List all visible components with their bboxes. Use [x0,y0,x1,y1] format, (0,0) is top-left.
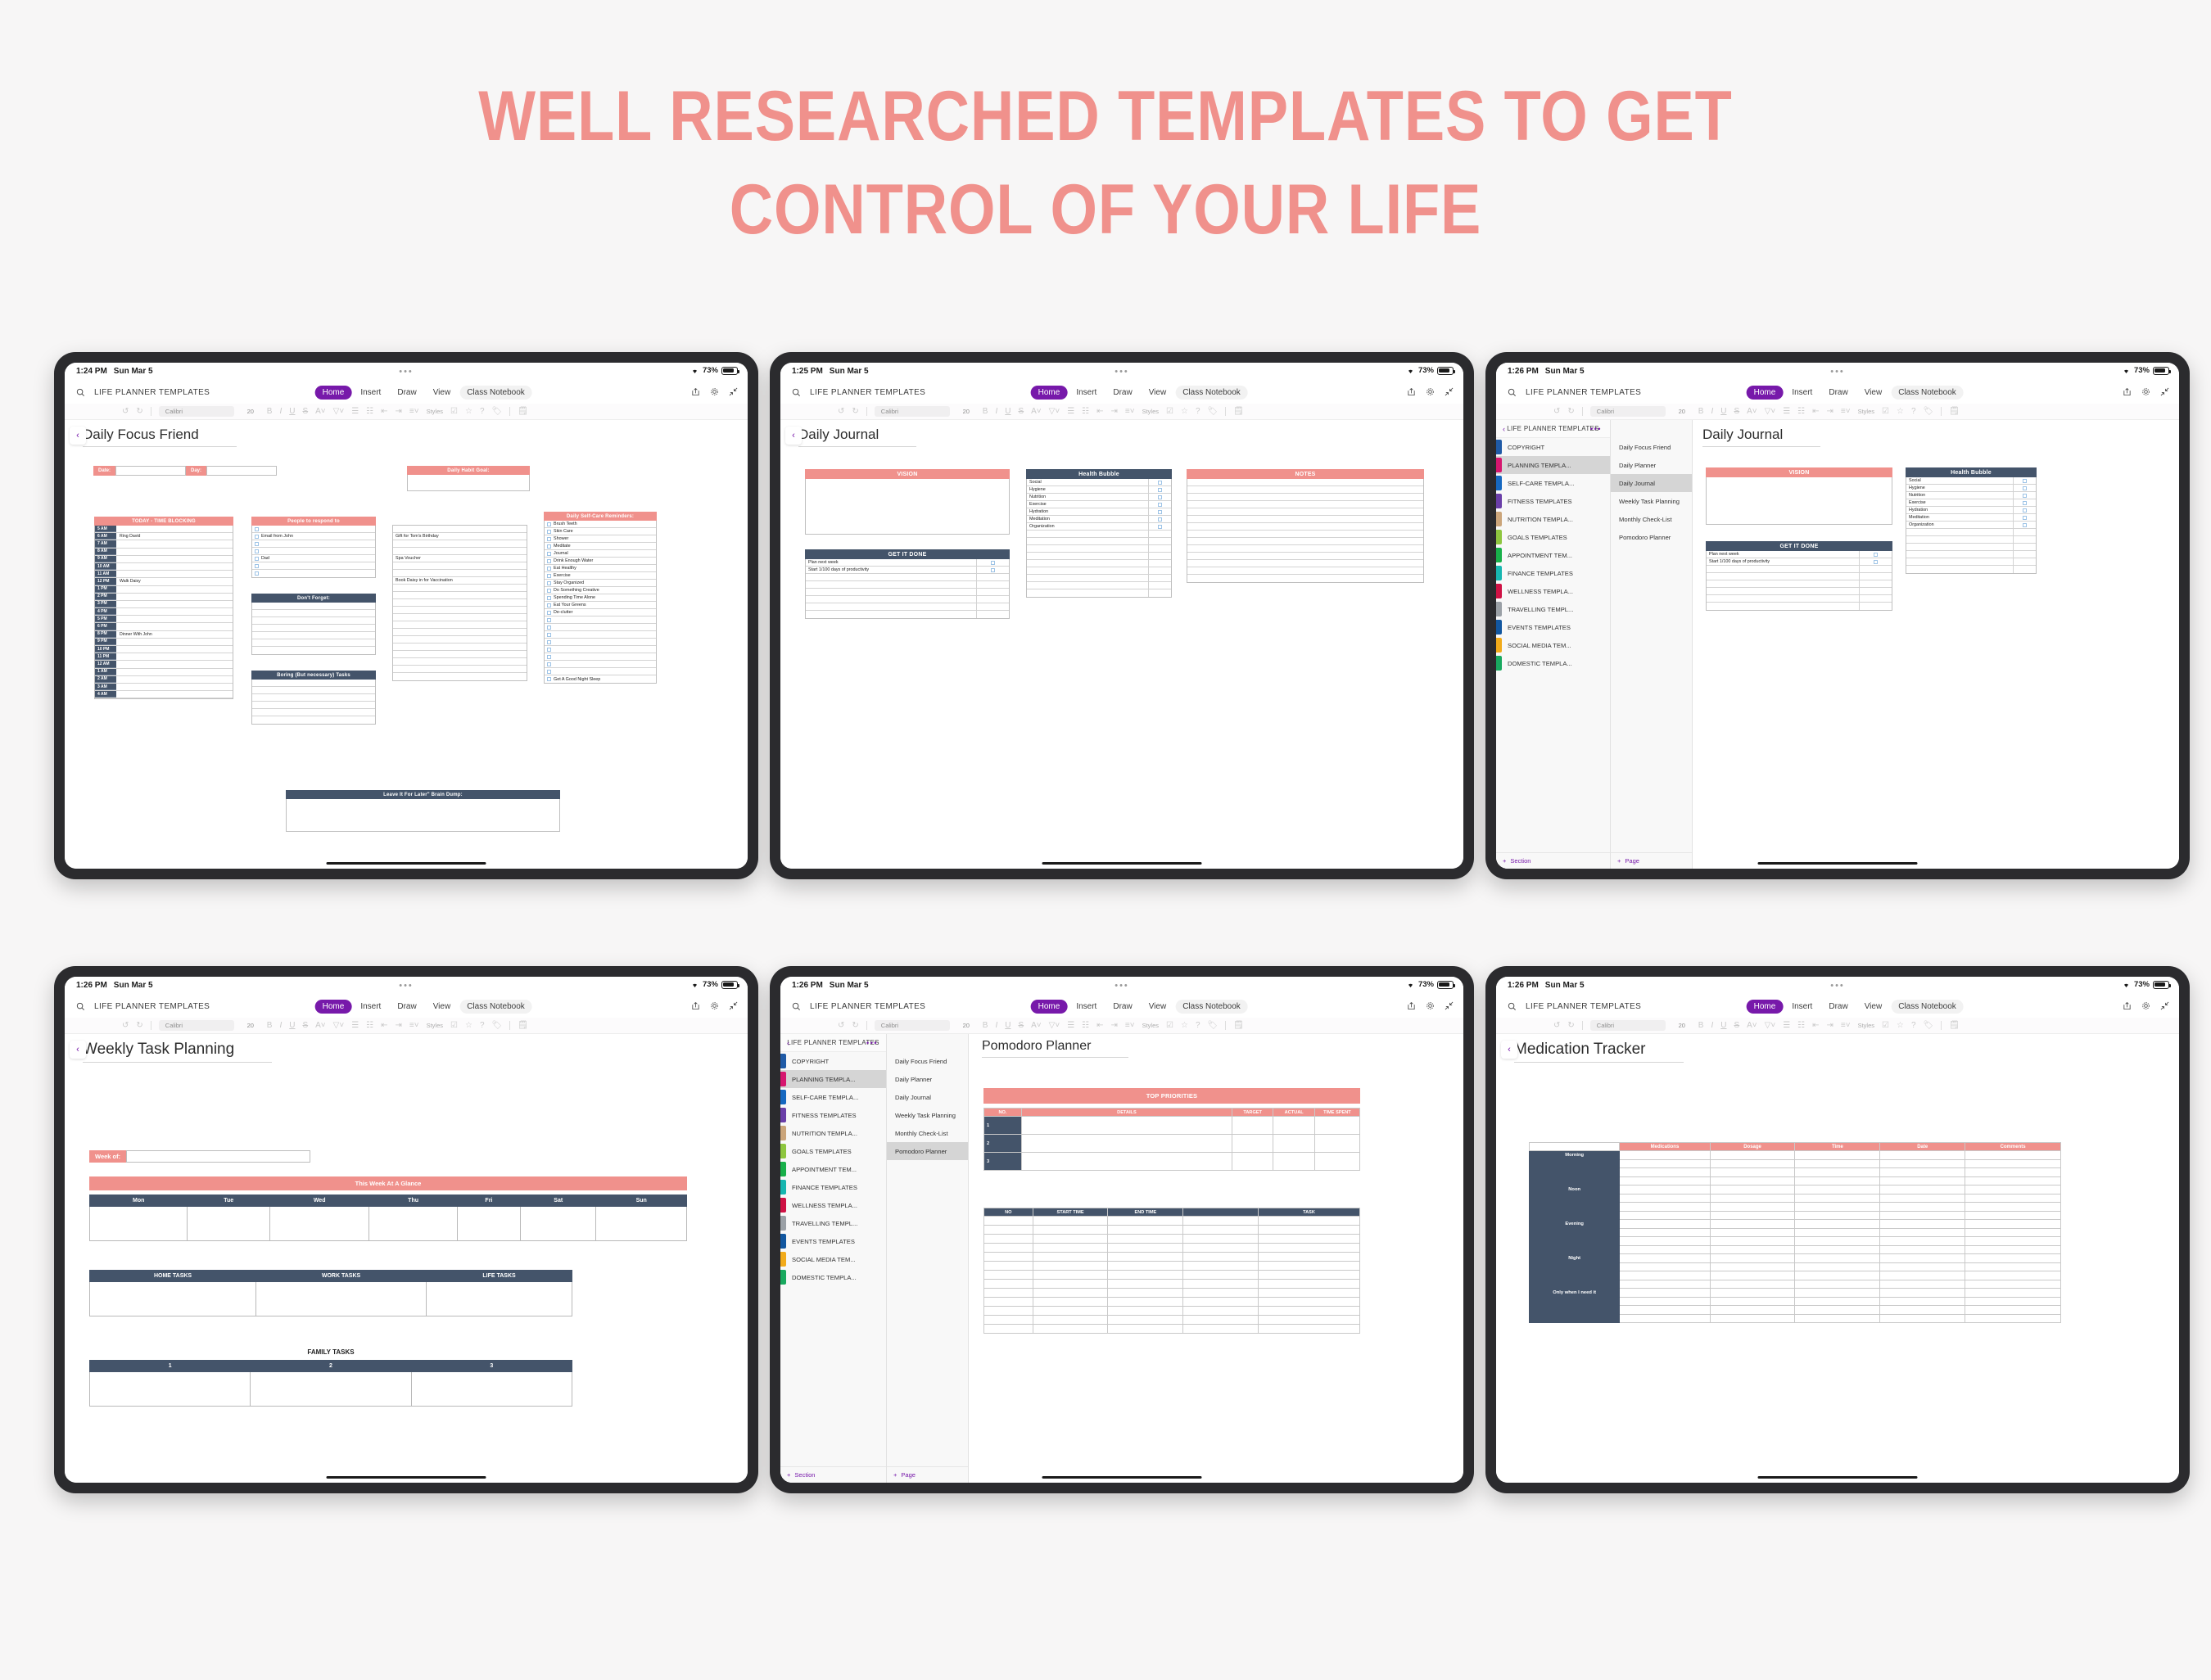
medication-cell[interactable] [1795,1211,1880,1220]
strikethrough-button[interactable]: S [1734,407,1739,416]
session-row[interactable] [984,1244,1360,1253]
session-cell[interactable] [984,1280,1033,1289]
boring-row[interactable] [252,709,375,716]
checkbox-icon[interactable] [255,527,259,531]
time-block-row[interactable]: 12 PMWalk Daisy [95,578,233,585]
task-groups-table[interactable]: HOME TASKSWORK TASKSLIFE TASKS [89,1270,572,1316]
medication-cell[interactable] [1795,1271,1880,1280]
multitask-dots-icon[interactable]: ••• [399,368,414,375]
medication-cell[interactable] [1620,1297,1710,1306]
session-row[interactable] [984,1253,1360,1262]
checkbox-icon[interactable] [547,589,551,593]
time-block-row[interactable]: 8 AM [95,549,233,556]
tab-home[interactable]: Home [1031,1000,1068,1014]
tab-draw[interactable]: Draw [1105,1000,1139,1014]
checkbox-icon[interactable] [2023,523,2027,527]
checkbox-icon[interactable] [1874,553,1878,557]
medication-cell[interactable] [1880,1306,1965,1315]
highlighter-icon[interactable]: ▽˅ [1765,1021,1776,1030]
health-bubble-check-cell[interactable] [1148,553,1171,559]
checkbox-icon[interactable] [2023,479,2027,483]
medication-cell[interactable] [1710,1289,1795,1298]
health-bubble-check-cell[interactable] [1148,508,1171,515]
medication-cell[interactable] [1620,1237,1710,1246]
shopping-list-table[interactable]: Gift for Tom's BirthdaySpa VoucherBook D… [392,525,527,681]
session-cell[interactable] [1183,1253,1259,1262]
italic-button[interactable]: I [1711,1021,1713,1030]
tab-insert[interactable]: Insert [1784,386,1820,400]
medication-row[interactable]: Morning [1530,1151,2061,1160]
add-section-button[interactable]: + Section [780,1466,886,1483]
health-bubble-check-cell[interactable] [2013,529,2036,535]
health-bubble-rows[interactable]: SocialHygieneNutritionExerciseHydrationM… [1906,477,2037,574]
list-row[interactable] [393,666,527,673]
health-bubble-row[interactable] [1027,545,1171,553]
strikethrough-button[interactable]: S [1734,1021,1739,1030]
checkbox-icon[interactable] [255,557,259,561]
session-cell[interactable] [984,1307,1033,1316]
bulleted-list-icon[interactable]: ☰ [351,1021,359,1030]
session-cell[interactable] [1108,1253,1183,1262]
boring-row[interactable] [252,687,375,694]
add-section-button[interactable]: + Section [1496,852,1610,869]
priority-cell[interactable] [1232,1135,1273,1153]
health-bubble-check-cell[interactable] [1148,560,1171,567]
medication-cell[interactable] [1620,1176,1710,1185]
get-it-done-check-cell[interactable] [1859,558,1892,565]
time-block-row[interactable]: 10 PM [95,646,233,653]
font-color-icon[interactable]: A˅ [315,1021,326,1030]
self-care-row[interactable] [545,661,656,668]
health-bubble-row[interactable] [1906,544,2036,551]
font-size-input[interactable]: 20 [242,1022,260,1029]
numbered-list-icon[interactable]: ☷ [366,407,373,416]
dont-forget-row[interactable] [252,610,375,617]
list-row[interactable] [393,599,527,607]
checkbox-icon[interactable] [547,640,551,644]
medication-cell[interactable] [1795,1306,1880,1315]
list-row[interactable] [393,585,527,592]
session-row[interactable] [984,1298,1360,1307]
sidebar-item-fitness-templates[interactable]: FITNESS TEMPLATES [1496,492,1610,510]
time-block-task[interactable] [116,653,233,660]
health-bubble-check-cell[interactable] [2013,507,2036,513]
medication-cell[interactable] [1965,1203,2061,1212]
tab-insert[interactable]: Insert [1069,386,1104,400]
medication-cell[interactable] [1880,1176,1965,1185]
medication-cell[interactable] [1965,1314,2061,1323]
tab-home[interactable]: Home [1747,386,1784,400]
list-row[interactable] [393,621,527,629]
medication-cell[interactable] [1710,1228,1795,1237]
session-cell[interactable] [1183,1244,1259,1253]
health-bubble-row[interactable]: Hygiene [1027,486,1171,494]
time-block-row[interactable]: 2 AM [95,676,233,684]
search-icon[interactable] [1508,386,1517,401]
list-row[interactable] [393,644,527,651]
medication-cell[interactable] [1795,1168,1880,1177]
medication-cell[interactable] [1710,1262,1795,1271]
get-it-done-row[interactable] [806,581,1009,589]
undo-icon[interactable]: ↺ [838,407,844,416]
redo-icon[interactable]: ↻ [1567,407,1574,416]
session-cell[interactable] [984,1262,1033,1271]
list-row[interactable] [393,540,527,548]
highlighter-icon[interactable]: ▽˅ [333,407,345,416]
sidebar-item-events-templates[interactable]: EVENTS TEMPLATES [1496,618,1610,636]
session-cell[interactable] [1108,1217,1183,1226]
health-bubble-check-cell[interactable] [2013,492,2036,499]
session-cell[interactable] [1259,1307,1360,1316]
boring-row[interactable] [252,694,375,702]
tab-class-notebook[interactable]: Class Notebook [459,386,532,400]
time-block-task[interactable] [116,549,233,555]
notes-row[interactable] [1187,545,1423,553]
font-name-input[interactable]: Calibri [875,1020,950,1031]
notes-row[interactable] [1187,538,1423,545]
tab-view[interactable]: View [426,1000,459,1014]
health-bubble-row[interactable] [1906,529,2036,536]
session-cell[interactable] [984,1253,1033,1262]
session-cell[interactable] [1259,1271,1360,1280]
session-cell[interactable] [1259,1217,1360,1226]
time-block-task[interactable] [116,571,233,577]
notes-row[interactable] [1187,508,1423,516]
health-bubble-check-cell[interactable] [2013,477,2036,484]
self-care-row[interactable]: Skin Care [545,528,656,535]
checkbox-icon[interactable] [547,567,551,571]
time-block-task[interactable] [116,691,233,698]
medication-cell[interactable] [1710,1237,1795,1246]
session-cell[interactable] [1183,1325,1259,1334]
priority-cell[interactable] [1314,1135,1359,1153]
tab-insert[interactable]: Insert [353,386,388,400]
search-icon[interactable] [76,1000,85,1015]
health-bubble-check-cell[interactable] [2013,514,2036,521]
list-row[interactable] [393,570,527,577]
session-cell[interactable] [1033,1316,1108,1325]
session-cell[interactable] [1183,1235,1259,1244]
sidebar-item-appointment-tem[interactable]: APPOINTMENT TEM... [780,1160,886,1178]
medication-cell[interactable] [1795,1228,1880,1237]
medication-cell[interactable] [1965,1297,2061,1306]
week-of-input[interactable] [126,1150,310,1163]
medication-cell[interactable] [1795,1289,1880,1298]
gear-icon[interactable] [710,386,719,400]
increase-indent-icon[interactable]: ⇥ [396,407,402,416]
medication-cell[interactable] [1965,1159,2061,1168]
medication-row[interactable] [1530,1280,2061,1289]
time-block-row[interactable]: 12 AM [95,661,233,668]
session-cell[interactable] [1259,1325,1360,1334]
priority-cell[interactable] [1021,1153,1232,1171]
priority-row[interactable]: 3 [984,1153,1360,1171]
sidebar-item-copyright[interactable]: COPYRIGHT [1496,438,1610,456]
self-care-row[interactable]: Journal [545,550,656,558]
checkbox-icon[interactable] [2023,516,2027,520]
checkbox-icon[interactable] [547,537,551,541]
sticky-note-icon[interactable]: 🗒 [1949,407,1960,416]
medication-cell[interactable] [1795,1245,1880,1254]
session-cell[interactable] [1033,1298,1108,1307]
medication-cell[interactable] [1965,1289,2061,1298]
checkbox-icon[interactable] [547,662,551,666]
health-bubble-row[interactable] [1027,538,1171,545]
tab-draw[interactable]: Draw [1821,1000,1855,1014]
share-icon[interactable] [2123,1000,2132,1014]
numbered-list-icon[interactable]: ☷ [366,1021,373,1030]
increase-indent-icon[interactable]: ⇥ [1827,1021,1833,1030]
sidebar-item-finance-templates[interactable]: FINANCE TEMPLATES [780,1178,886,1196]
medication-cell[interactable] [1880,1194,1965,1203]
checkbox-icon[interactable] [1158,503,1162,507]
get-it-done-check-cell[interactable] [976,589,1009,595]
medication-cell[interactable] [1880,1280,1965,1289]
gear-icon[interactable] [2141,386,2150,400]
sidebar-item-wellness-templa[interactable]: WELLNESS TEMPLA... [1496,582,1610,600]
multitask-dots-icon[interactable]: ••• [399,982,414,989]
checkbox-icon[interactable] [2023,494,2027,498]
session-cell[interactable] [1183,1271,1259,1280]
checkbox-icon[interactable] [547,574,551,578]
medication-cell[interactable] [1880,1237,1965,1246]
medication-cell[interactable] [1710,1211,1795,1220]
gear-icon[interactable] [1426,1000,1435,1014]
medication-cell[interactable] [1965,1176,2061,1185]
session-cell[interactable] [984,1217,1033,1226]
medication-cell[interactable] [1795,1176,1880,1185]
self-care-row[interactable] [545,631,656,639]
medication-row[interactable] [1530,1237,2061,1246]
session-cell[interactable] [1033,1253,1108,1262]
health-bubble-check-cell[interactable] [2013,499,2036,506]
session-cell[interactable] [1183,1316,1259,1325]
time-block-row[interactable]: 11 AM [95,571,233,578]
time-block-row[interactable]: 9 AM [95,556,233,563]
multitask-dots-icon[interactable]: ••• [1830,982,1845,989]
session-cell[interactable] [1033,1262,1108,1271]
sidebar-item-nutrition-templa[interactable]: NUTRITION TEMPLA... [1496,510,1610,528]
vision-input[interactable] [805,479,1010,535]
weekday-cell[interactable] [90,1207,188,1241]
family-col-cell[interactable] [411,1372,572,1407]
medication-cell[interactable] [1620,1262,1710,1271]
self-care-row[interactable] [545,639,656,646]
medication-cell[interactable] [1880,1211,1965,1220]
medication-row[interactable] [1530,1194,2061,1203]
get-it-done-row[interactable] [806,589,1009,596]
get-it-done-row[interactable] [806,611,1009,618]
medication-cell[interactable] [1620,1211,1710,1220]
get-it-done-row[interactable] [1707,573,1892,580]
session-cell[interactable] [1108,1316,1183,1325]
numbered-list-icon[interactable]: ☷ [1082,1021,1089,1030]
checkbox-icon[interactable] [255,564,259,568]
health-bubble-check-cell[interactable] [1148,479,1171,485]
italic-button[interactable]: I [1711,407,1713,416]
undo-icon[interactable]: ↺ [1553,407,1560,416]
star-icon[interactable]: ☆ [1897,407,1904,416]
styles-button[interactable]: Styles [427,408,443,415]
medication-cell[interactable] [1620,1254,1710,1263]
checkbox-icon[interactable] [547,677,551,681]
medication-cell[interactable] [1620,1194,1710,1203]
priority-cell[interactable] [1273,1117,1314,1135]
medication-row[interactable] [1530,1314,2061,1323]
session-cell[interactable] [1259,1298,1360,1307]
time-block-task[interactable] [116,556,233,562]
tab-class-notebook[interactable]: Class Notebook [1891,1000,1964,1014]
get-it-done-check-cell[interactable] [976,581,1009,588]
session-row[interactable] [984,1325,1360,1334]
get-it-done-row[interactable] [1707,595,1892,603]
session-cell[interactable] [984,1226,1033,1235]
highlighter-icon[interactable]: ▽˅ [1049,1021,1060,1030]
weekday-cell[interactable] [269,1207,369,1241]
get-it-done-check-cell[interactable] [976,611,1009,618]
session-cell[interactable] [1108,1298,1183,1307]
medication-cell[interactable] [1620,1159,1710,1168]
list-row[interactable] [393,673,527,680]
font-name-input[interactable]: Calibri [875,406,950,417]
session-cell[interactable] [1183,1298,1259,1307]
session-cell[interactable] [984,1235,1033,1244]
strikethrough-button[interactable]: S [1018,407,1024,416]
health-bubble-check-cell[interactable] [1148,531,1171,537]
time-block-row[interactable]: 11 PM [95,653,233,661]
session-cell[interactable] [1108,1289,1183,1298]
underline-button[interactable]: U [1005,1021,1011,1030]
underline-button[interactable]: U [1720,407,1726,416]
medication-cell[interactable] [1880,1203,1965,1212]
bulleted-list-icon[interactable]: ☰ [351,407,359,416]
decrease-indent-icon[interactable]: ⇤ [1812,1021,1819,1030]
italic-button[interactable]: I [995,1021,997,1030]
notes-row[interactable] [1187,523,1423,531]
notes-rows[interactable] [1187,479,1424,583]
session-cell[interactable] [1108,1307,1183,1316]
health-bubble-check-cell[interactable] [2013,544,2036,550]
time-block-task[interactable] [116,623,233,630]
checkbox-icon[interactable] [991,561,995,565]
back-button[interactable]: ‹ [70,1041,86,1059]
medication-cell[interactable] [1710,1203,1795,1212]
list-row[interactable]: Gift for Tom's Birthday [393,533,527,540]
time-block-task[interactable]: Walk Daisy [116,578,233,585]
font-name-input[interactable]: Calibri [159,406,234,417]
underline-button[interactable]: U [289,407,295,416]
checkbox-icon[interactable] [547,625,551,630]
task-group-cell[interactable] [90,1282,256,1316]
checkbox-icon[interactable] [1158,517,1162,522]
time-block-task[interactable] [116,661,233,667]
dont-forget-row[interactable] [252,632,375,639]
search-icon[interactable] [792,1000,801,1015]
notes-row[interactable] [1187,516,1423,523]
medication-cell[interactable] [1880,1314,1965,1323]
session-row[interactable] [984,1262,1360,1271]
page-item-weekly-task-planning[interactable]: Weekly Task Planning [1611,492,1692,510]
health-bubble-row[interactable]: Meditation [1027,516,1171,523]
question-icon[interactable]: ? [1911,407,1916,416]
question-icon[interactable]: ? [480,1021,485,1030]
session-cell[interactable] [1033,1244,1108,1253]
health-bubble-check-cell[interactable] [2013,536,2036,543]
day-input[interactable] [206,466,277,476]
collapse-icon[interactable] [729,386,738,400]
redo-icon[interactable]: ↻ [136,407,142,416]
checkbox-icon[interactable] [255,535,259,539]
health-bubble-row[interactable] [1027,567,1171,575]
dont-forget-row[interactable] [252,625,375,632]
sidebar-item-appointment-tem[interactable]: APPOINTMENT TEM... [1496,546,1610,564]
session-cell[interactable] [1033,1307,1108,1316]
checkbox-icon[interactable] [1874,560,1878,564]
health-bubble-row[interactable] [1906,566,2036,573]
checkbox-icon[interactable] [255,549,259,553]
medication-cell[interactable] [1795,1314,1880,1323]
sidebar-item-goals-templates[interactable]: GOALS TEMPLATES [780,1142,886,1160]
underline-button[interactable]: U [1720,1021,1726,1030]
medication-cell[interactable] [1710,1185,1795,1195]
page-item-daily-planner[interactable]: Daily Planner [1611,456,1692,474]
time-block-task[interactable] [116,526,233,532]
health-bubble-check-cell[interactable] [1148,589,1171,597]
medication-cell[interactable] [1710,1314,1795,1323]
font-name-input[interactable]: Calibri [1590,1020,1666,1031]
font-color-icon[interactable]: A˅ [1747,1021,1757,1030]
medication-cell[interactable] [1795,1151,1880,1160]
session-row[interactable] [984,1271,1360,1280]
medication-cell[interactable] [1795,1185,1880,1195]
health-bubble-check-cell[interactable] [1148,516,1171,522]
gear-icon[interactable] [1426,386,1435,400]
tag-icon[interactable]: 🏷 [492,1021,503,1030]
priority-row[interactable]: 2 [984,1135,1360,1153]
task-groups-cells[interactable] [90,1282,572,1316]
session-cell[interactable] [1108,1235,1183,1244]
highlighter-icon[interactable]: ▽˅ [1765,407,1776,416]
checkbox-icon[interactable]: ☑ [1882,1021,1889,1030]
medication-cell[interactable] [1620,1271,1710,1280]
back-button[interactable]: ‹ [1503,425,1505,433]
session-cell[interactable] [1183,1280,1259,1289]
session-cell[interactable] [1259,1244,1360,1253]
list-row[interactable] [393,548,527,555]
star-icon[interactable]: ☆ [1181,407,1188,416]
sticky-note-icon[interactable]: 🗒 [1233,1021,1244,1030]
self-care-row[interactable] [545,624,656,631]
medication-cell[interactable] [1880,1297,1965,1306]
dont-forget-row[interactable] [252,639,375,647]
self-care-row[interactable]: De-clutter [545,609,656,616]
highlighter-icon[interactable]: ▽˅ [1049,407,1060,416]
collapse-icon[interactable] [1445,1000,1454,1014]
medication-cell[interactable] [1710,1280,1795,1289]
medication-row[interactable] [1530,1159,2061,1168]
session-cell[interactable] [1033,1217,1108,1226]
sessions-table[interactable]: NOSTART TIMEEND TIMETASK [983,1208,1360,1334]
checkbox-icon[interactable] [255,571,259,576]
italic-button[interactable]: I [279,1021,282,1030]
session-cell[interactable] [984,1316,1033,1325]
health-bubble-row[interactable] [1027,560,1171,567]
gear-icon[interactable] [710,1000,719,1014]
undo-icon[interactable]: ↺ [838,1021,844,1030]
font-color-icon[interactable]: A˅ [1031,1021,1042,1030]
medication-cell[interactable] [1620,1151,1710,1160]
medication-cell[interactable] [1965,1271,2061,1280]
